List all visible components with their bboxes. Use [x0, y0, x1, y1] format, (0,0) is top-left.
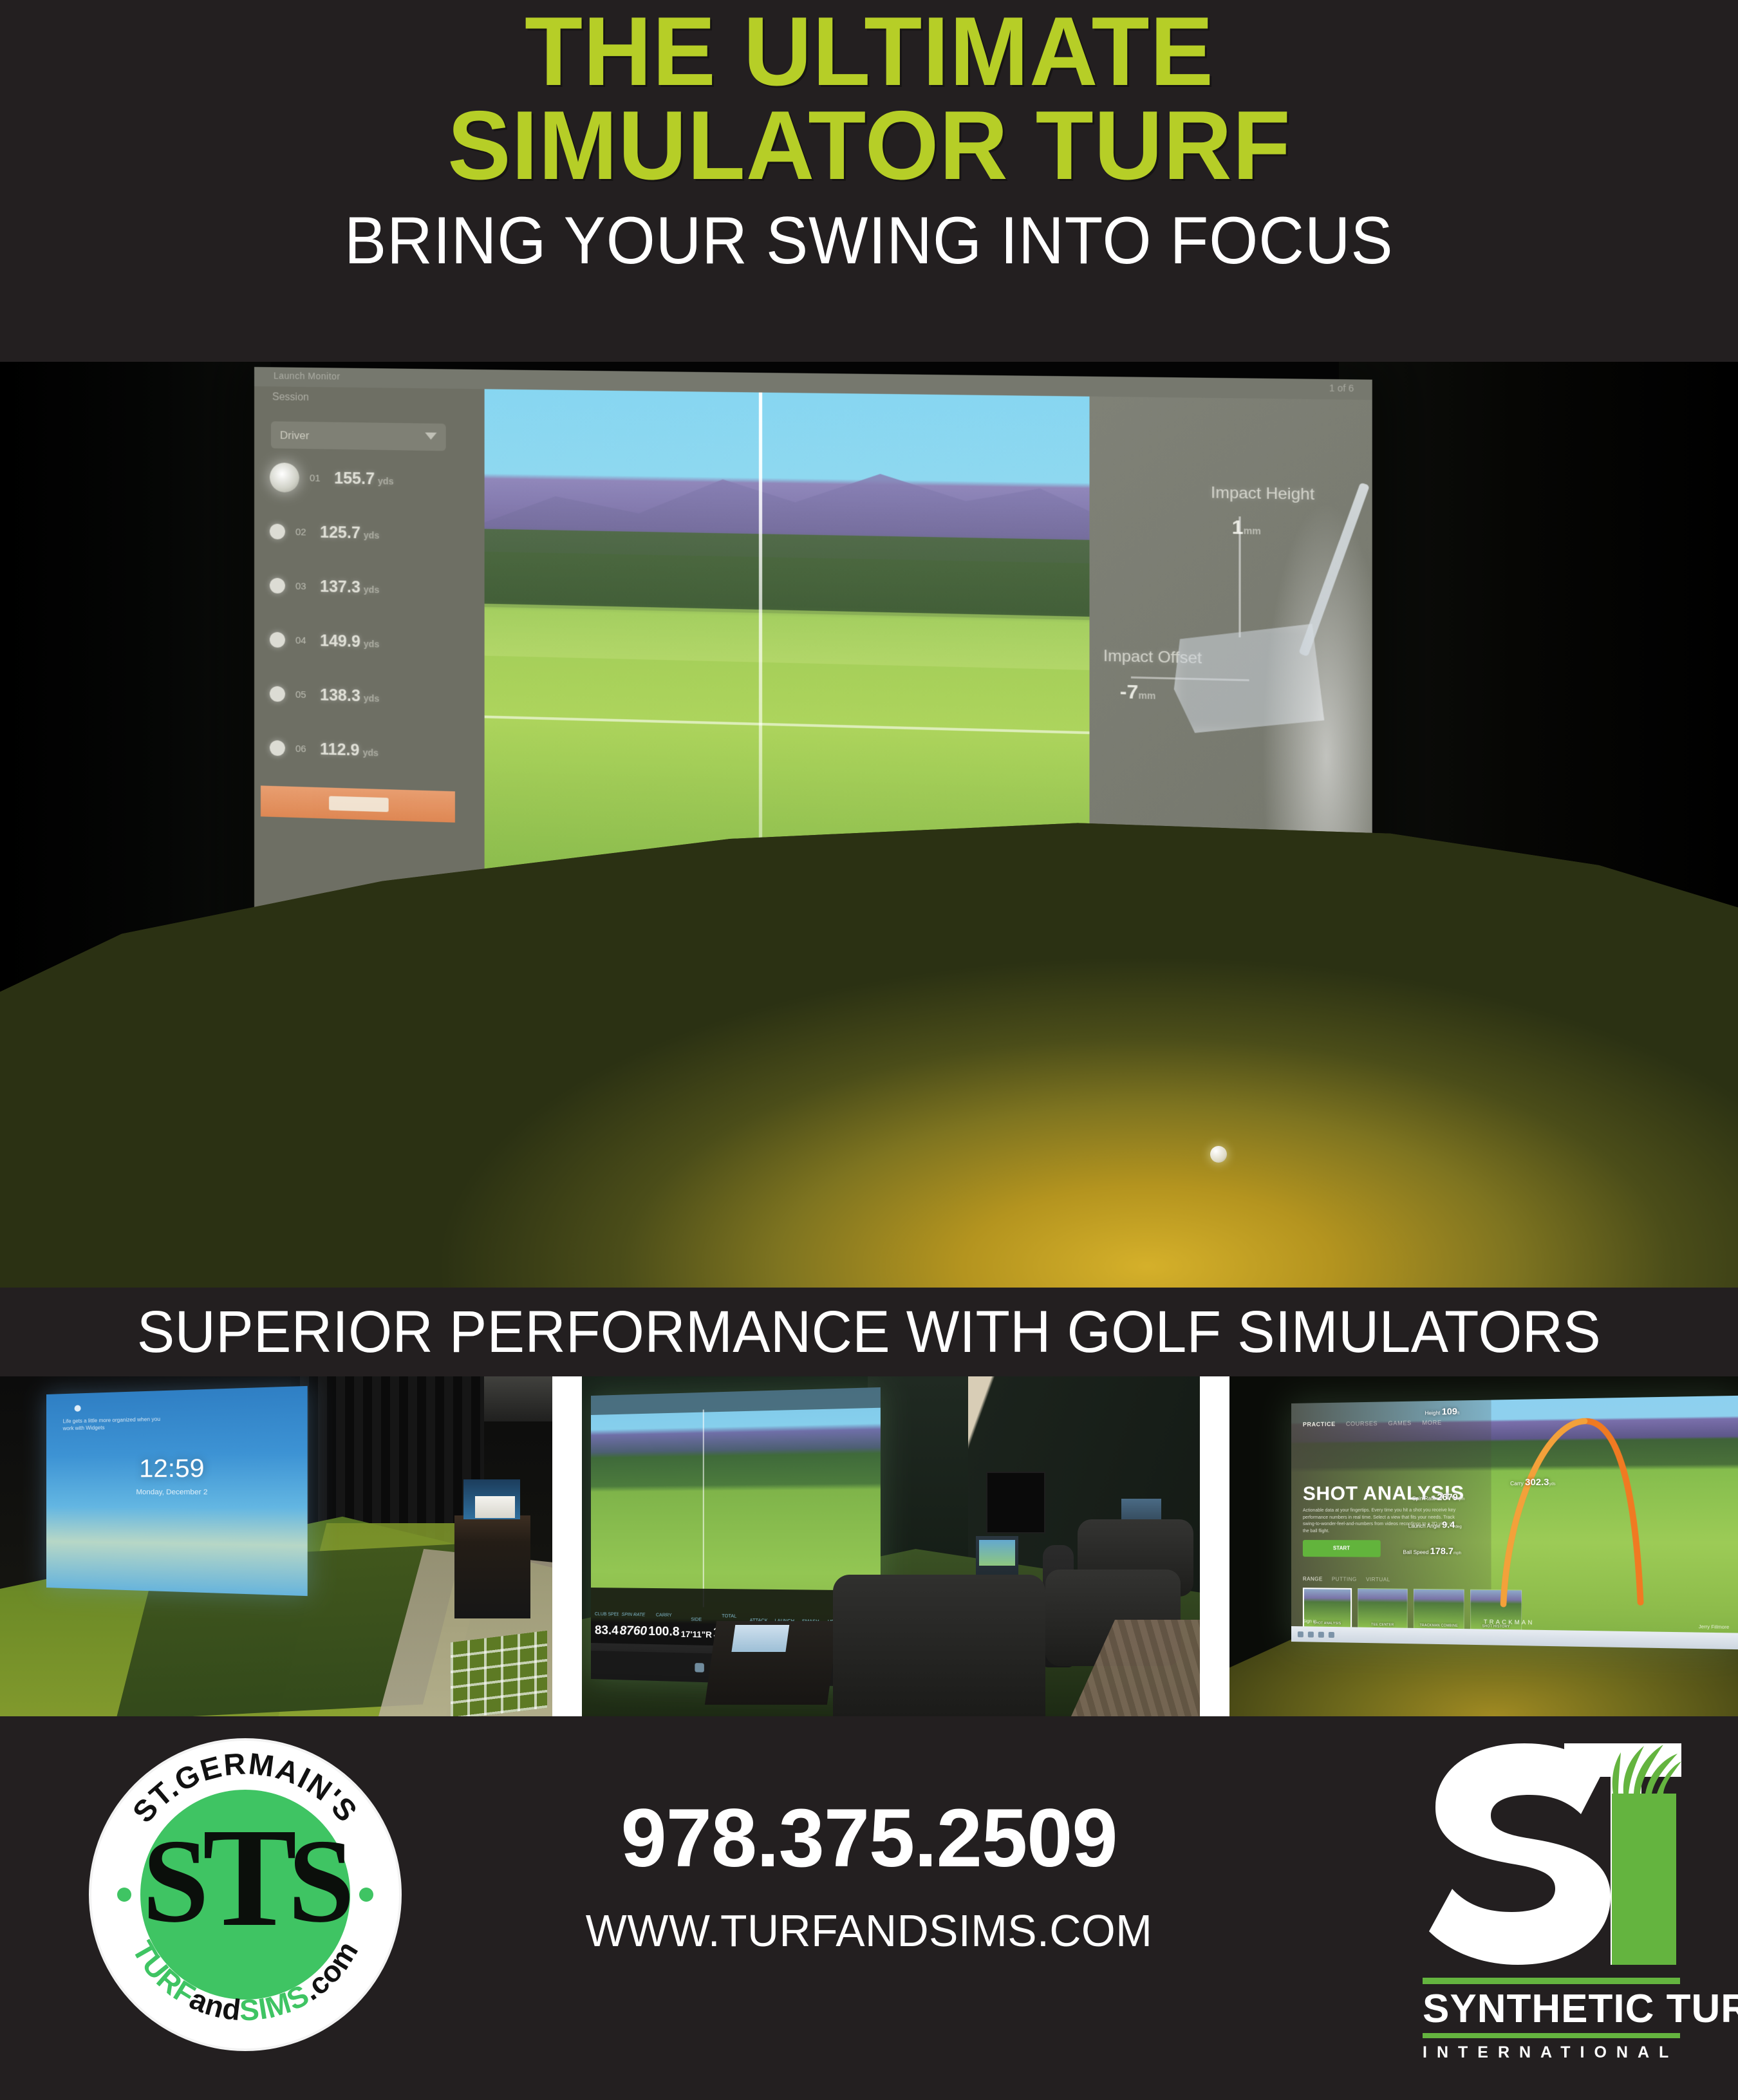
p3-tab[interactable]: PUTTING [1332, 1576, 1357, 1582]
p3-user-name: Jerry Fillmore [1699, 1625, 1729, 1630]
p2-stat: CARRY100.8 [648, 1626, 679, 1638]
shot-index: 01 [310, 473, 324, 483]
shot-dot-icon [270, 523, 285, 539]
screen-title: Launch Monitor [274, 370, 341, 381]
p3-start-button[interactable]: START [1303, 1540, 1381, 1557]
p3-nav-item[interactable]: MORE [1422, 1420, 1441, 1427]
impact-height-axis [1238, 516, 1240, 637]
sti-subname: INTERNATIONAL [1423, 2043, 1680, 2062]
shot-unit: yds [378, 476, 393, 486]
shot-unit: yds [364, 584, 379, 595]
page-subtitle: BRING YOUR SWING INTO FOCUS [344, 207, 1394, 274]
mid-banner-text: SUPERIOR PERFORMANCE WITH GOLF SIMULATOR… [137, 1298, 1601, 1366]
rail-title: Session [272, 391, 309, 404]
website-url[interactable]: WWW.TURFANDSIMS.COM [463, 1908, 1275, 1953]
chevron-down-icon [425, 433, 436, 440]
header-banner: THE ULTIMATE SIMULATOR TURF BRING YOUR S… [0, 0, 1738, 362]
p1-screen-tip: Life gets a little more organized when y… [63, 1416, 162, 1432]
hero-photo-simulator-bay: Launch Monitor 1 of 6 Session Driver 011… [0, 362, 1738, 1288]
shot-distance: 125.7yds [320, 523, 379, 543]
shot-index: 04 [295, 635, 310, 646]
photo-bay-with-mat: Life gets a little more organized when y… [0, 1376, 552, 1716]
sts-arc-top-text: ST.GERMAIN'S [126, 1746, 365, 1829]
p3-tabs: RANGEPUTTINGVIRTUAL [1303, 1576, 1390, 1582]
advertisement-page: THE ULTIMATE SIMULATOR TURF BRING YOUR S… [0, 0, 1738, 2100]
shot-row[interactable]: 04149.9yds [270, 621, 477, 664]
p3-nav-item[interactable]: COURSES [1346, 1420, 1378, 1427]
p3-annotation-spin: Spin Rate 2679rpm [1412, 1492, 1465, 1503]
shot-distance: 138.3yds [320, 686, 379, 706]
p2-stat-label: CLUB SPEED [595, 1612, 619, 1617]
shot-index: 06 [295, 743, 310, 755]
p1-projection-screen: Life gets a little more organized when y… [46, 1386, 308, 1596]
p2-aim-line [703, 1409, 704, 1607]
sti-name: SYNTHETIC TURF [1423, 1989, 1680, 2029]
headline-line-2: SIMULATOR TURF [447, 99, 1291, 193]
p2-taskbar-icon [695, 1663, 704, 1673]
p2-front-table [705, 1621, 839, 1705]
p3-taskbar-icon [1329, 1631, 1334, 1637]
p3-start-label: START [1303, 1545, 1381, 1552]
shot-index: 05 [295, 689, 310, 700]
shot-row[interactable]: 03137.3yds [270, 567, 477, 608]
shot-distance: 155.7yds [334, 469, 393, 489]
club-shaft-graphic [1298, 482, 1370, 657]
phone-number[interactable]: 978.375.2509 [451, 1797, 1287, 1880]
p3-annotation-carry: Carry 302.3yds [1510, 1476, 1555, 1487]
p2-stat-label: SPIN RATE [620, 1613, 647, 1618]
photo-simulator-lounge: CLUB SPEED83.4SPIN RATE8760CARRY100.8SID… [582, 1376, 1200, 1716]
shot-distance: 112.9yds [320, 740, 378, 760]
shot-dot-icon [270, 632, 285, 648]
highlight-bar [261, 785, 455, 822]
sts-arc-text: ST.GERMAIN'S TURFandSIMS.com [91, 1741, 399, 2048]
photo-gap-1 [552, 1376, 582, 1716]
impact-offset-value: -7mm [1120, 681, 1156, 705]
shot-index: 03 [295, 581, 310, 592]
p1-boxes [475, 1496, 515, 1518]
p2-stat-label: CARRY [648, 1613, 679, 1618]
shot-dot-icon [270, 740, 285, 756]
sti-rule-bottom [1423, 2033, 1680, 2038]
mid-banner: SUPERIOR PERFORMANCE WITH GOLF SIMULATOR… [0, 1288, 1738, 1376]
p1-tile-turf [451, 1631, 547, 1716]
club-head-graphic [1174, 619, 1325, 736]
shot-row[interactable]: 02125.7yds [270, 512, 477, 554]
p3-annotation-ballspeed: Ball Speed 178.7mph [1403, 1546, 1462, 1557]
shot-index: 02 [295, 527, 310, 538]
screen-shot-counter: 1 of 6 [1329, 382, 1354, 393]
club-selector[interactable]: Driver [271, 421, 446, 451]
shot-dot-icon [270, 577, 285, 594]
shot-dot-icon [270, 686, 285, 702]
p3-tab[interactable]: VIRTUAL [1366, 1577, 1390, 1582]
impact-height-label: Impact Height [1211, 483, 1314, 504]
shot-row[interactable]: 06112.9yds [270, 729, 477, 773]
p2-stat-label: SIDE [681, 1617, 712, 1622]
sti-logo: SYNTHETIC TURF INTERNATIONAL [1383, 1738, 1698, 2073]
sti-monogram-svg [1398, 1738, 1681, 1970]
p3-nav-item[interactable]: PRACTICE [1303, 1421, 1336, 1428]
p2-stat: CLUB SPEED83.4 [595, 1624, 619, 1637]
p2-armchair-front [833, 1575, 1045, 1716]
p3-tab[interactable]: RANGE [1303, 1576, 1323, 1582]
p2-stat: SIDE17'11"R [681, 1630, 712, 1639]
impact-height-value: 1mm [1232, 516, 1261, 539]
highlight-chip [329, 796, 389, 812]
p2-kiosk-screen [979, 1540, 1015, 1566]
p3-taskbar-icon [1308, 1631, 1314, 1637]
p2-stat-label: TOTAL [713, 1614, 745, 1619]
sti-monogram-mark [1398, 1738, 1681, 1970]
photo-gap-2 [1200, 1376, 1229, 1716]
p1-screen-clock: 12:59 [46, 1453, 308, 1484]
p3-ball-flight-arc [1468, 1409, 1676, 1613]
p3-nav-item[interactable]: GAMES [1388, 1420, 1412, 1427]
sti-rule-top [1423, 1978, 1680, 1984]
p1-screen-date: Monday, December 2 [46, 1488, 308, 1497]
shot-distance: 149.9yds [320, 632, 379, 652]
shot-row[interactable]: 01155.7yds [270, 458, 477, 500]
shot-unit: yds [364, 693, 379, 704]
p3-taskbar-icon [1318, 1631, 1324, 1637]
page-title: THE ULTIMATE SIMULATOR TURF [447, 5, 1291, 193]
p3-annotation-launch: Launch Angle 9.4deg [1408, 1519, 1462, 1530]
shot-dot-icon [270, 462, 299, 492]
p3-projection-screen: PRACTICECOURSESGAMESMORE SHOT ANALYSIS A… [1291, 1396, 1738, 1649]
p3-arc-svg [1468, 1409, 1676, 1613]
shot-unit: yds [364, 638, 379, 649]
p3-annotation-height: Height 109ft [1425, 1406, 1459, 1417]
p2-stat: SPIN RATE8760 [620, 1625, 647, 1638]
sts-logo: STS ST.GERMAIN'S TURFandSIMS.com [91, 1741, 399, 2048]
p2-menu-card [731, 1625, 789, 1652]
shot-unit: yds [363, 747, 378, 758]
aim-line-horizontal [485, 716, 1090, 735]
club-selector-label: Driver [280, 429, 309, 443]
sts-arc-bottom-text: TURFandSIMS.com [126, 1935, 365, 2027]
p1-bulb-icon [75, 1405, 81, 1411]
golf-ball [1210, 1146, 1227, 1163]
p1-equipment-cart [454, 1515, 530, 1618]
shot-distance: 137.3yds [320, 577, 379, 597]
p2-wall-tv [986, 1472, 1045, 1533]
contact-block: 978.375.2509 WWW.TURFANDSIMS.COM [451, 1797, 1287, 1953]
shot-unit: yds [364, 530, 379, 541]
photo-trackman-shot-analysis: PRACTICECOURSESGAMESMORE SHOT ANALYSIS A… [1229, 1376, 1738, 1716]
photo-strip: Life gets a little more organized when y… [0, 1376, 1738, 1716]
footer-bar: STS ST.GERMAIN'S TURFandSIMS.com 978.375… [0, 1716, 1738, 2100]
p3-taskbar-icon [1298, 1631, 1303, 1637]
shot-row[interactable]: 05138.3yds [270, 675, 477, 718]
